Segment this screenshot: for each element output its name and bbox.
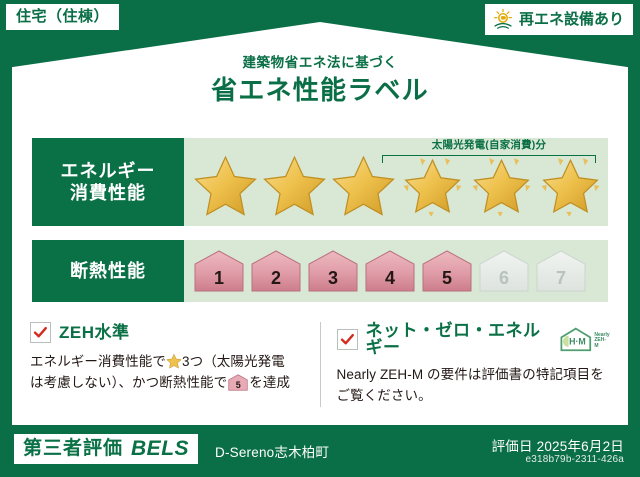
house-type-tag: 住宅（住棟） <box>6 4 119 30</box>
net-zero-criterion-text: Nearly ZEH-M の要件は評価書の特記項目をご覧ください。 <box>337 365 611 407</box>
zeh-m-caption-line2: ZEH-M <box>594 337 606 349</box>
insulation-level-badges: 1 2 3 4 5 <box>184 249 588 293</box>
checkbox-checked-icon <box>30 322 51 343</box>
energy-label-line1: エネルギー <box>61 160 156 183</box>
label-title: 建築物省エネ法に基づく 省エネ性能ラベル <box>0 55 640 105</box>
zeh-m-logo-caption: Nearly ZEH-M <box>594 333 610 353</box>
insulation-badge-value: 1 <box>192 269 246 287</box>
star-icon <box>261 154 328 216</box>
zeh-star-count: 3つ（太陽光発電 <box>182 354 285 369</box>
insulation-badge-inline: 5 <box>227 374 249 391</box>
insulation-badge: 7 <box>534 249 588 293</box>
energy-label-line2: 消費性能 <box>70 182 146 205</box>
insulation-badge: 2 <box>249 249 303 293</box>
zeh-criterion: ZEH水準 エネルギー消費性能で3つ（太陽光発電 は考慮しない）、かつ断熱性能で… <box>30 322 304 407</box>
energy-performance-label: 住宅（住棟） 再エネ設備あり 建築物省エネ法に基づく 省エネ性能ラベル <box>0 0 640 477</box>
insulation-badge: 4 <box>363 249 417 293</box>
criteria-section: ZEH水準 エネルギー消費性能で3つ（太陽光発電 は考慮しない）、かつ断熱性能で… <box>30 322 610 407</box>
evaluation-date: 評価日 2025年6月2日 <box>492 435 624 455</box>
zeh-m-logo-icon: H·M Nearly ZEH-M <box>559 326 610 352</box>
star-icon-inline <box>166 353 182 369</box>
star-icon-solar <box>468 154 535 216</box>
star-icon-solar <box>537 154 604 216</box>
title-subtitle: 建築物省エネ法に基づく <box>0 55 640 71</box>
zeh-criterion-header: ZEH水準 <box>30 322 304 343</box>
energy-performance-label: エネルギー 消費性能 <box>32 138 184 226</box>
project-name: D-Sereno志木柏町 <box>215 441 329 461</box>
bels-en-text: BELS <box>131 438 189 459</box>
label-footer: 第三者評価 BELS D-Sereno志木柏町 評価日 2025年6月2日 e3… <box>0 425 640 477</box>
star-icon-solar <box>399 154 466 216</box>
star-icon <box>330 154 397 216</box>
zeh-criterion-text: エネルギー消費性能で3つ（太陽光発電 は考慮しない）、かつ断熱性能で5を達成 <box>30 352 304 394</box>
bels-badge: 第三者評価 BELS <box>14 434 198 464</box>
insulation-badge-value: 7 <box>534 269 588 287</box>
insulation-badge-value: 3 <box>306 269 360 287</box>
net-zero-criterion-title: ネット・ゼロ・エネルギー <box>366 322 548 356</box>
insulation-badge: 3 <box>306 249 360 293</box>
net-zero-criterion: ネット・ゼロ・エネルギー H·M Nearly ZEH-M Nearly ZEH… <box>320 322 611 407</box>
insulation-performance-body: 1 2 3 4 5 <box>184 240 608 302</box>
renewable-tag-text: 再エネ設備あり <box>519 12 624 27</box>
insulation-badge-value: 2 <box>249 269 303 287</box>
checkbox-checked-icon <box>337 329 358 350</box>
evaluation-id: e318b79b-2311-426a <box>525 454 624 465</box>
insulation-badge: 5 <box>420 249 474 293</box>
zeh-criterion-title: ZEH水準 <box>59 324 130 341</box>
insulation-label-text: 断熱性能 <box>70 260 146 283</box>
zeh-badge-value: 5 <box>227 381 249 390</box>
renewable-equipment-tag: 再エネ設備あり <box>485 4 633 35</box>
insulation-badge-value: 4 <box>363 269 417 287</box>
energy-performance-body: 太陽光発電(自家消費)分 <box>184 138 608 226</box>
insulation-badge-value: 5 <box>420 269 474 287</box>
bels-jp-text: 第三者評価 <box>23 439 123 458</box>
solar-contribution-note: 太陽光発電(自家消費)分 <box>380 140 598 152</box>
star-icon <box>192 154 259 216</box>
house-type-text: 住宅（住棟） <box>16 8 109 25</box>
energy-star-rating <box>184 154 604 216</box>
insulation-performance-label: 断熱性能 <box>32 240 184 302</box>
svg-text:H·M: H·M <box>569 337 586 347</box>
zeh-text-part2: は考慮しない）、かつ断熱性能で <box>30 375 227 390</box>
insulation-badge: 6 <box>477 249 531 293</box>
zeh-text-part1: エネルギー消費性能で <box>30 354 166 369</box>
energy-performance-row: エネルギー 消費性能 太陽光発電(自家消費)分 <box>32 138 608 226</box>
insulation-badge-value: 6 <box>477 269 531 287</box>
insulation-performance-row: 断熱性能 1 <box>32 240 608 302</box>
zeh-text-part3: を達成 <box>249 375 290 390</box>
title-main: 省エネ性能ラベル <box>0 76 640 105</box>
net-zero-criterion-header: ネット・ゼロ・エネルギー H·M Nearly ZEH-M <box>337 322 611 356</box>
insulation-badge: 1 <box>192 249 246 293</box>
sun-solar-icon <box>492 8 514 30</box>
